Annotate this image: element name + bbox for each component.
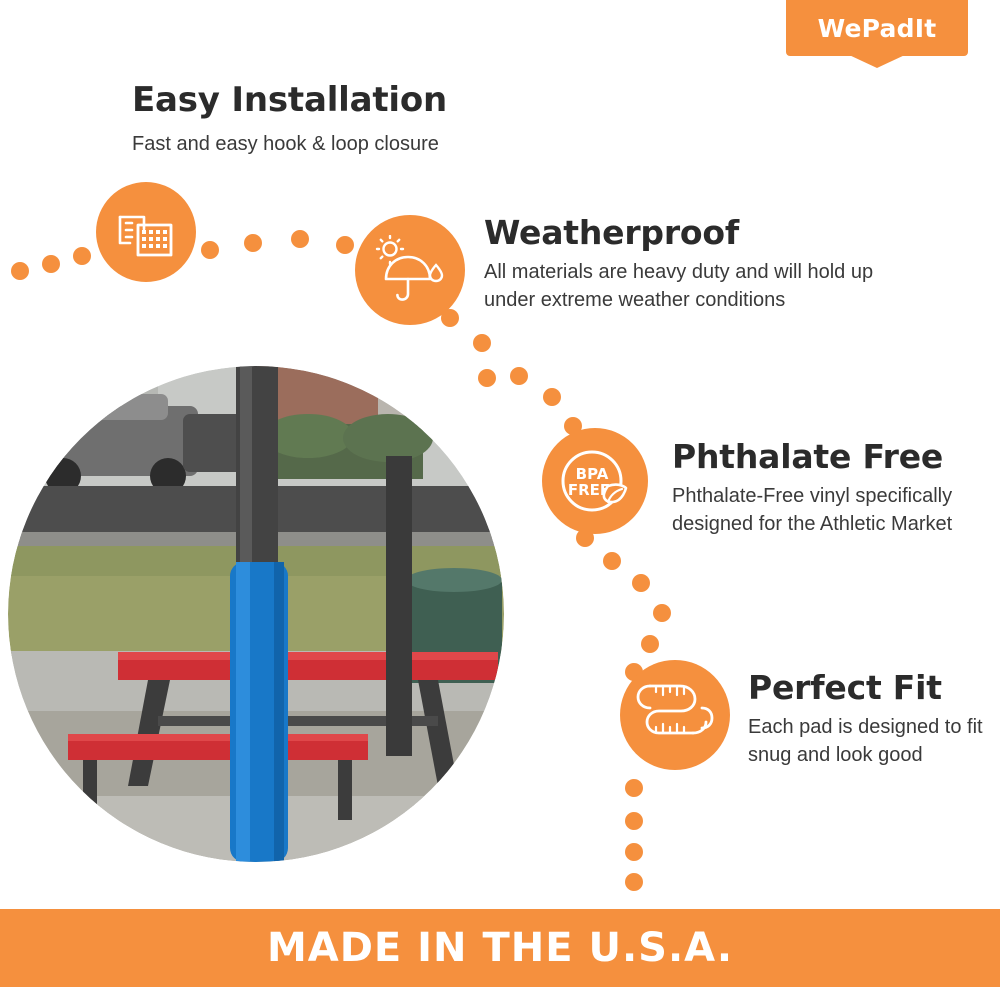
infographic-canvas: WePadIt (0, 0, 1000, 987)
bpa-free-leaf-icon: BPA FREE (552, 438, 638, 524)
feature-block-perfect-fit: Perfect Fit Each pad is designed to fit … (748, 668, 988, 769)
feature-icon-badge-easy-installation (96, 182, 196, 282)
product-photo-illustration (8, 366, 504, 862)
logo-text: WePadIt (786, 14, 968, 43)
feature-description-weatherproof: All materials are heavy duty and will ho… (484, 258, 914, 314)
feature-block-phthalate-free: Phthalate Free Phthalate-Free vinyl spec… (672, 437, 972, 538)
building-checklist-icon (116, 203, 176, 261)
feature-icon-badge-phthalate-free: BPA FREE (542, 428, 648, 534)
feature-description-phthalate-free: Phthalate-Free vinyl specifically design… (672, 482, 972, 538)
wepadit-logo: WePadIt (786, 0, 968, 68)
feature-description-perfect-fit: Each pad is designed to fit snug and loo… (748, 713, 988, 769)
feature-block-easy-installation: Easy Installation Fast and easy hook & l… (132, 80, 652, 158)
banner-text: MADE IN THE U.S.A. (267, 925, 733, 971)
feature-title-perfect-fit: Perfect Fit (748, 668, 988, 707)
feature-title-phthalate-free: Phthalate Free (672, 437, 972, 476)
feature-title-weatherproof: Weatherproof (484, 213, 914, 252)
feature-title-easy-installation: Easy Installation (132, 80, 652, 120)
feature-block-weatherproof: Weatherproof All materials are heavy dut… (484, 213, 914, 314)
logo-tail-shape (847, 54, 907, 68)
measuring-tape-icon (636, 678, 714, 752)
product-photo (8, 366, 504, 862)
made-in-usa-banner: MADE IN THE U.S.A. (0, 909, 1000, 987)
feature-icon-badge-perfect-fit (620, 660, 730, 770)
feature-icon-badge-weatherproof (355, 215, 465, 325)
feature-description-easy-installation: Fast and easy hook & loop closure (132, 130, 652, 158)
sun-umbrella-rain-icon (374, 235, 446, 305)
